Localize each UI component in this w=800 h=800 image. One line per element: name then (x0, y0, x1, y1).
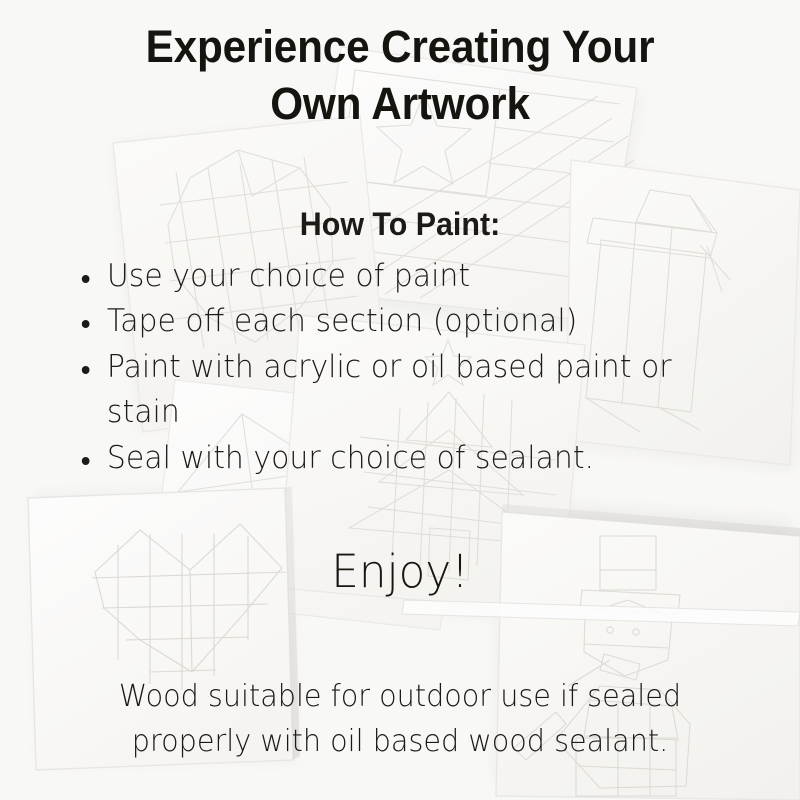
instructions-list: Use your choice of paint Tape off each s… (76, 254, 756, 481)
text-overlay: Experience Creating Your Own Artwork How… (0, 0, 800, 800)
page-title-line-2: Own Artwork (24, 75, 776, 132)
instructions-heading: How To Paint: (20, 206, 780, 243)
poster-root: Experience Creating Your Own Artwork How… (0, 0, 800, 800)
footnote: Wood suitable for outdoor use if sealed … (18, 674, 782, 764)
footnote-line-2: properly with oil based wood sealant. (18, 719, 782, 764)
list-item: Tape off each section (optional) (76, 299, 732, 344)
list-item: Seal with your choice of sealant. (76, 436, 732, 481)
page-title: Experience Creating Your Own Artwork (24, 18, 776, 132)
list-item: Use your choice of paint (76, 254, 732, 299)
page-title-line-1: Experience Creating Your (24, 18, 776, 75)
enjoy-text: Enjoy! (12, 545, 788, 598)
list-item: Paint with acrylic or oil based paint or… (76, 345, 732, 436)
footnote-line-1: Wood suitable for outdoor use if sealed (18, 674, 782, 719)
